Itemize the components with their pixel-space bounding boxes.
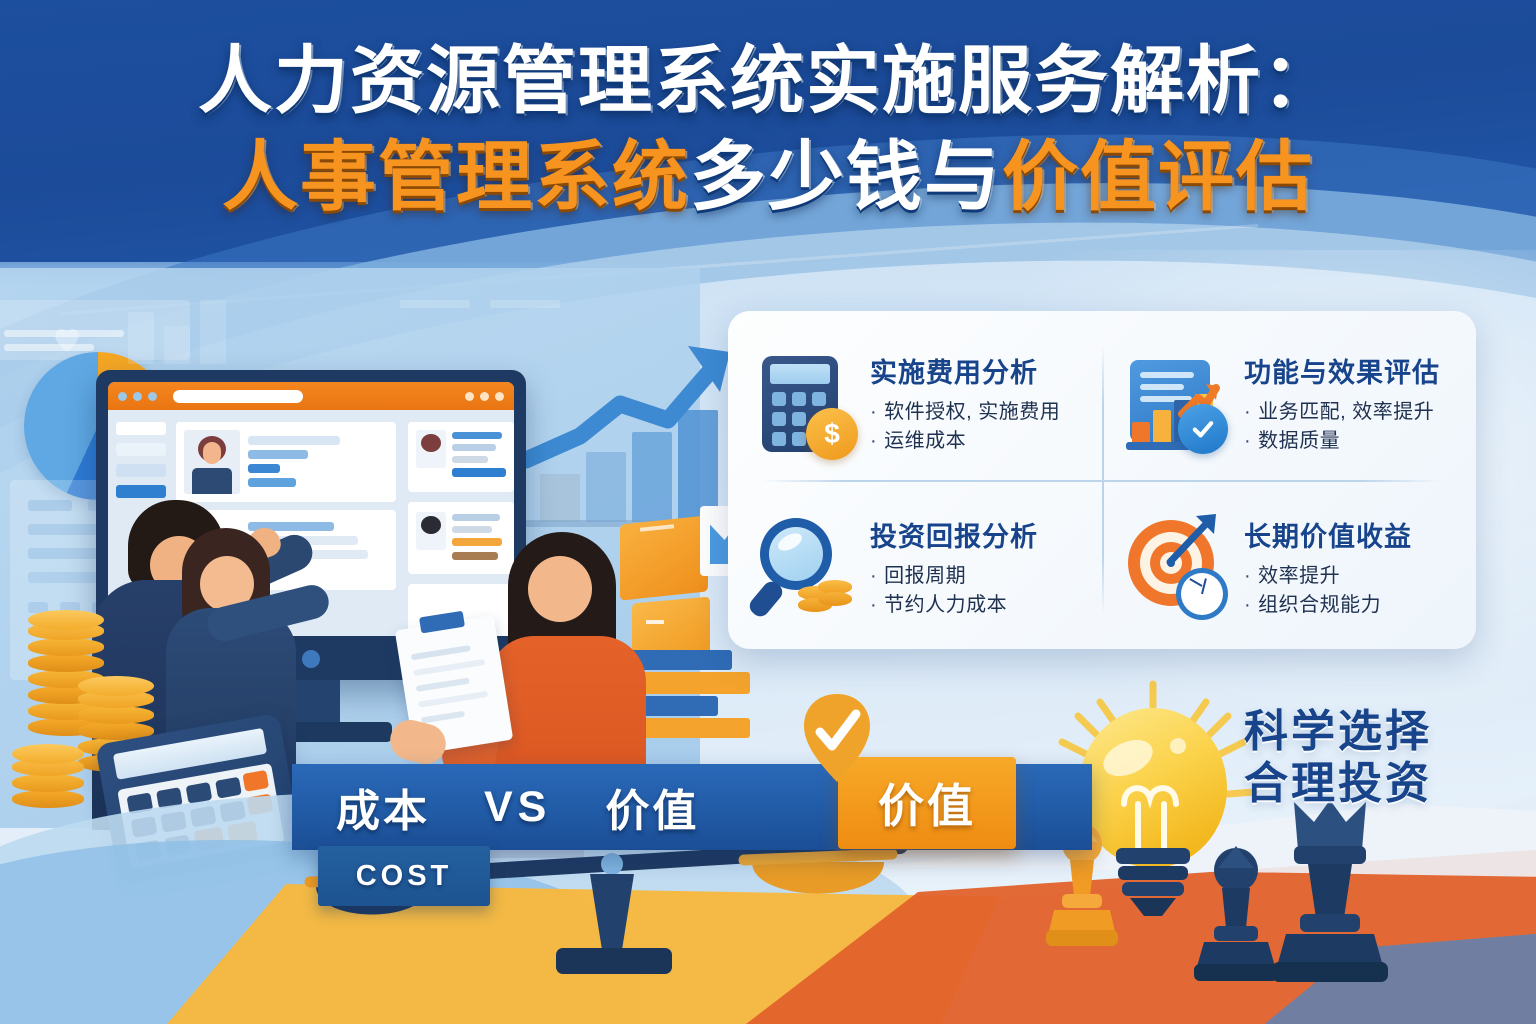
person-clipboard-head [528,556,592,622]
sidebar-item[interactable] [116,443,166,456]
card-bullets: ·效率提升 ·组织合规能力 [1244,562,1490,619]
sidebar-item[interactable] [116,422,166,435]
target-dart-clock-icon [1124,514,1234,624]
field-line [452,514,500,521]
poster-title: 人力资源管理系统实施服务解析： 人事管理系统多少钱与价值评估 [0,42,1536,219]
title-line-2-part-1: 人事管理系统 [222,135,690,220]
title-line-2-part-2: 多少钱与 [690,135,1002,220]
clipboard-line [421,711,465,724]
card-heading: 长期价值收益 [1244,523,1490,553]
clipboard-line [418,691,488,708]
field-line [452,538,502,546]
background-bar [400,300,470,308]
field-line [248,478,296,487]
browser-dot-icon [495,392,504,401]
field-line [248,464,280,473]
clipboard-line [413,659,485,676]
field-line [248,436,340,445]
clipboard-line [416,678,470,692]
card-heading: 实施费用分析 [870,359,1116,389]
background-bar [164,326,190,364]
field-line [452,456,488,463]
card-bullets: ·软件授权, 实施费用 ·运维成本 [870,398,1116,455]
background-bar [490,300,560,308]
field-line [248,450,308,459]
book-stack-item [628,672,750,694]
avatar-hair [421,434,441,452]
band-label-value: 价值 [605,775,699,839]
check-pin-icon [800,690,874,786]
card-value-path[interactable]: 长期价值收益 ·效率提升 ·组织合规能力 [1124,489,1490,649]
browser-dot-icon [148,392,157,401]
calculator-coin-icon: $ [750,350,860,460]
card-bullet: ·组织合规能力 [1244,591,1490,619]
title-line-1-text: 人力资源管理系统实施服务解析： [198,39,1338,122]
browser-toolbar [108,382,514,410]
background-bar [128,312,154,364]
card-bullet: ·数据质量 [1244,427,1490,455]
card-bullet: ·效率提升 [1244,562,1490,590]
avatar-face [203,442,221,464]
field-line [452,444,496,451]
cost-plate-label: COST [356,860,453,893]
chess-king-icon [1270,792,1390,984]
card-heading: 功能与效果评估 [1244,359,1490,389]
card-bullets: ·回报周期 ·节约人力成本 [870,562,1116,619]
background-bar [200,300,226,364]
browser-dot-icon [480,392,489,401]
cost-plate: COST [318,846,490,906]
sidebar-item[interactable] [116,464,166,477]
browser-dot-icon [133,392,142,401]
magnifier-coins-icon [750,514,860,624]
analysis-panel: $ 实施费用分析 ·软件授权, 实施费用 ·运维成本 [728,311,1476,649]
background-chip [28,500,72,511]
card-bullet: ·节约人力成本 [870,591,1116,619]
card-function-effect[interactable]: 功能与效果评估 ·业务匹配, 效率提升 ·数据质量 [1124,325,1490,485]
band-label-vs: VS [484,783,551,832]
field-line [452,432,502,439]
chess-pawn-icon [1190,842,1282,982]
title-line-1: 人力资源管理系统实施服务解析： [0,42,1536,120]
tagline: 科学选择 合理投资 [1244,706,1432,810]
book-stack-item [632,718,750,738]
avatar-hair [421,516,441,534]
card-bullet: ·运维成本 [870,427,1116,455]
folder-arrow-icon [646,620,664,624]
field-line [452,552,498,560]
avatar-body [192,468,232,494]
card-bullets: ·业务匹配, 效率提升 ·数据质量 [1244,398,1490,455]
address-bar[interactable] [173,390,303,403]
sidebar-item-active[interactable] [116,485,166,498]
field-line [452,468,506,477]
card-bullet: ·业务匹配, 效率提升 [1244,398,1490,426]
band-label-cost: 成本 [336,775,430,839]
heart-icon [46,318,88,358]
title-line-2-part-3: 价值评估 [1002,135,1314,220]
tagline-line-1: 科学选择 [1244,706,1432,758]
title-line-2: 人事管理系统多少钱与价值评估 [0,138,1536,219]
card-cost-analysis[interactable]: $ 实施费用分析 ·软件授权, 实施费用 ·运维成本 [750,325,1116,485]
growth-arrow-icon [520,340,740,490]
chart-document-check-icon [1124,350,1234,460]
clipboard-line [411,645,471,660]
card-roi-analysis[interactable]: 投资回报分析 ·回报周期 ·节约人力成本 [750,489,1116,649]
card-heading: 投资回报分析 [870,523,1116,553]
value-badge-label: 价值 [878,770,976,836]
card-bullet: ·回报周期 [870,562,1116,590]
tagline-line-2: 合理投资 [1244,758,1432,810]
infographic-poster: 人力资源管理系统实施服务解析： 人事管理系统多少钱与价值评估 $ [0,0,1536,1024]
field-line [452,526,492,533]
monitor-power-indicator [302,650,320,668]
card-bullet: ·软件授权, 实施费用 [870,398,1116,426]
dashboard-sidebar [116,422,166,498]
browser-dot-icon [118,392,127,401]
browser-dot-icon [465,392,474,401]
